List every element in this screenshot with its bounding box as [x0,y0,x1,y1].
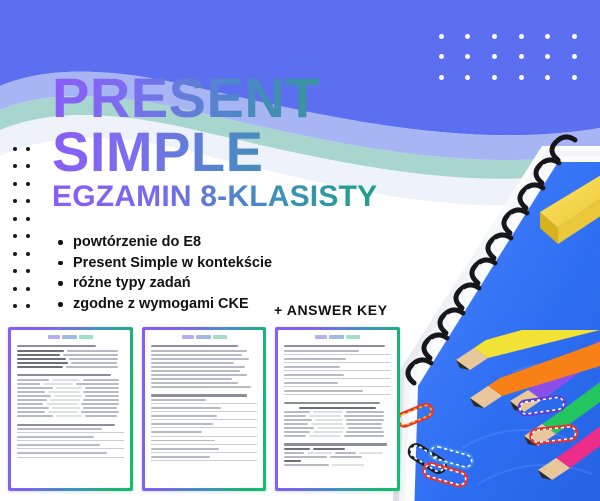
worksheet-badge-2 [196,335,211,339]
worksheet-section-3 [17,424,124,461]
worksheet-section-1 [284,345,391,398]
worksheet-preview-3[interactable] [275,327,400,491]
feature-item-1: powtórzenie do E8 [58,232,272,253]
page-subtitle: EGZAMIN 8-KLASISTY [52,182,482,212]
worksheet-badge-1 [315,335,327,339]
page-title-line-1: PRESENT [52,72,482,124]
lower-pencils-photo [432,330,600,440]
worksheet-preview-2[interactable] [142,327,267,491]
worksheet-preview-1[interactable] [8,327,133,491]
worksheet-section-2 [284,402,391,439]
worksheet-header-badges [284,335,391,339]
feature-item-3: różne typy zadań [58,273,272,294]
worksheet-badge-3 [213,335,227,339]
paperclip-icon-red-yellow [396,403,434,429]
worksheet-section-1 [17,345,124,370]
worksheet-badge-3 [346,335,360,339]
worksheet-header-badges [151,335,258,339]
worksheet-badge-3 [79,335,93,339]
worksheet-section-3 [284,443,391,468]
headline-block: PRESENT SIMPLE EGZAMIN 8-KLASISTY [52,72,482,212]
feature-item-2: Present Simple w kontekście [58,253,272,274]
worksheet-section-1 [151,345,258,390]
feature-item-4: zgodne z wymogami CKE [58,294,272,315]
feature-list: powtórzenie do E8 Present Simple w konte… [58,232,272,315]
worksheet-section-2 [17,374,124,419]
page-title-line-2: SIMPLE [52,126,482,178]
worksheet-badge-1 [182,335,194,339]
poster-canvas: PRESENT SIMPLE EGZAMIN 8-KLASISTY powtór… [0,0,600,501]
worksheet-badge-2 [62,335,77,339]
worksheet-badge-2 [329,335,344,339]
worksheet-preview-row [8,327,400,491]
dot-grid-icon-left [8,140,34,315]
worksheet-section-2 [151,394,258,463]
worksheet-header-badges [17,335,124,339]
worksheet-badge-1 [48,335,60,339]
answer-key-note: + ANSWER KEY [274,302,388,318]
